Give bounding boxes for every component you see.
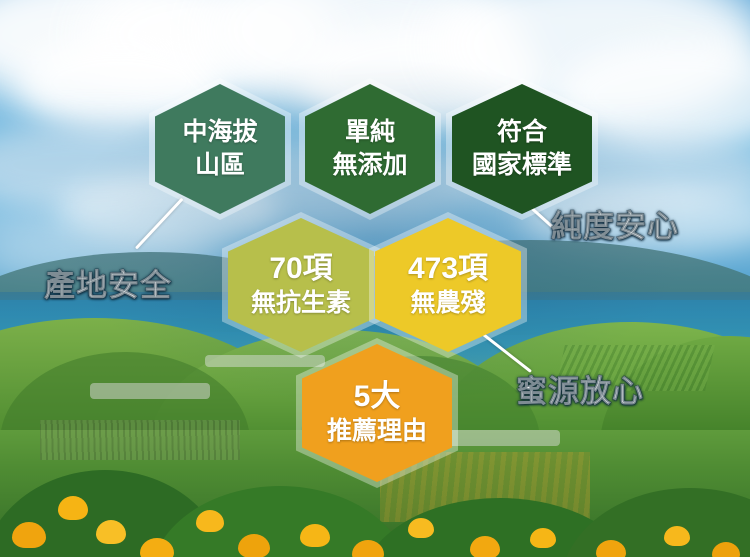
hex-meets-national-standard-line1: 符合 (497, 118, 547, 147)
hex-5-recommendation-reasons-line2: 推薦理由 (327, 417, 427, 446)
callout-nectar-source: 蜜源放心 (516, 366, 644, 411)
callout-origin-safety: 產地安全 (44, 260, 172, 305)
callout-purity-assurance: 純度安心 (551, 201, 679, 246)
hex-simple-no-additives-line1: 單純 (345, 118, 395, 147)
hex-5-recommendation-reasons-line1: 5大 (354, 380, 401, 415)
hex-mid-altitude-mountain-line1: 中海拔 (182, 118, 257, 147)
hex-simple-no-additives-line2: 無添加 (332, 151, 407, 180)
hex-473-items-no-pesticide-residue-line2: 無農殘 (410, 289, 485, 318)
hex-mid-altitude-mountain-line2: 山區 (195, 151, 245, 180)
infographic-canvas: 中海拔山區單純無添加符合國家標準70項無抗生素473項無農殘5大推薦理由 產地安… (0, 0, 750, 557)
hex-meets-national-standard-line2: 國家標準 (472, 151, 572, 180)
hex-473-items-no-pesticide-residue-line1: 473項 (408, 252, 488, 287)
hex-70-items-no-antibiotics-line2: 無抗生素 (251, 289, 351, 318)
hex-70-items-no-antibiotics-line1: 70項 (269, 252, 332, 287)
